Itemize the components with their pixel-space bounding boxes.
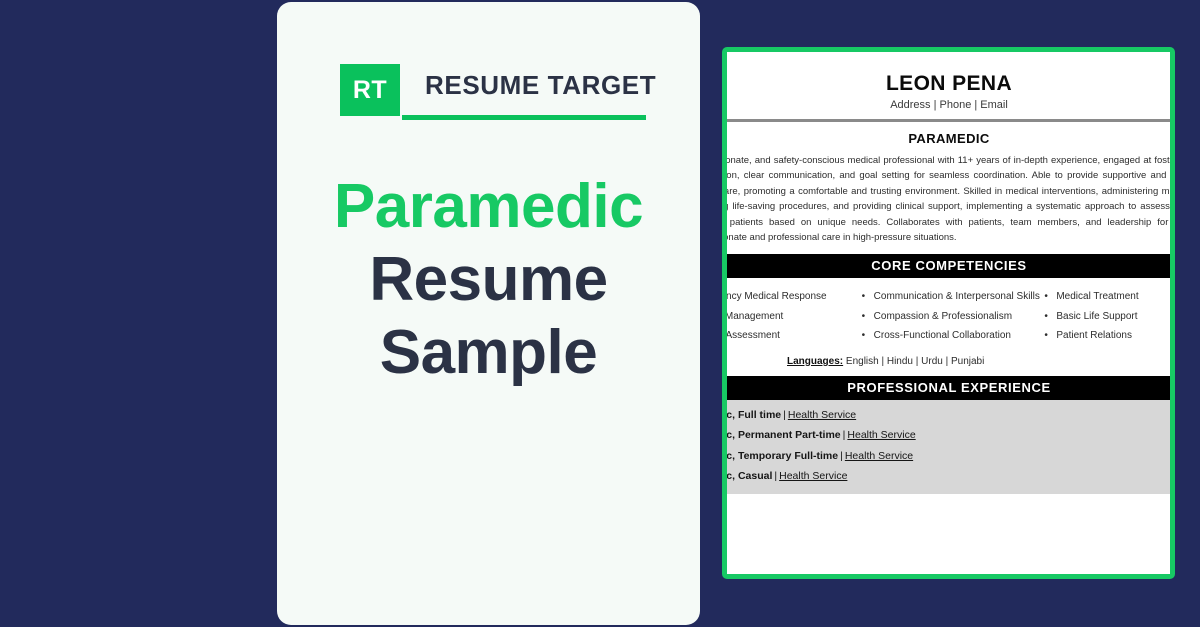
experience-role: Paramedic, Full time	[722, 409, 781, 421]
experience-separator: |	[838, 450, 845, 462]
experience-organization: Health Service	[779, 470, 847, 482]
experience-organization: Health Service	[788, 409, 856, 421]
experience-organization: Health Service	[845, 450, 913, 462]
bullet-icon: •	[862, 326, 866, 346]
resume-candidate-name: LEON PENA	[722, 72, 1175, 96]
experience-role: Paramedic, Casual	[722, 470, 772, 482]
page-title-line-1: Paramedic	[297, 170, 680, 243]
competency-label: Clinical Assessment	[722, 330, 780, 341]
competency-item: •Patient Management	[722, 307, 856, 327]
page-title: Paramedic Resume Sample	[297, 170, 680, 389]
experience-row: Paramedic, Permanent Part-time|Health Se…	[722, 425, 1175, 445]
competency-label: Basic Life Support	[1056, 311, 1137, 322]
competency-label: Emergency Medical Response	[722, 291, 827, 302]
resume-job-title: PARAMEDIC	[722, 131, 1175, 146]
competency-label: Cross-Functional Collaboration	[874, 330, 1011, 341]
bullet-icon: •	[1044, 307, 1048, 327]
resume-contact-line: Address | Phone | Email	[722, 99, 1175, 111]
competency-item: •Patient Relations	[1042, 326, 1175, 346]
experience-row: Paramedic, Full time|Health Service Sep.	[722, 405, 1175, 425]
competency-label: Patient Management	[722, 311, 783, 322]
brand-name: RESUME TARGET	[425, 70, 656, 101]
competency-item: •Cross-Functional Collaboration	[860, 326, 1039, 346]
experience-row: Paramedic, Casual|Health Service July	[722, 466, 1175, 486]
experience-title-group: Paramedic, Full time|Health Service	[722, 405, 856, 425]
competency-column-2: •Communication & Interpersonal Skills •C…	[860, 287, 1039, 346]
bullet-icon: •	[1044, 326, 1048, 346]
experience-title-group: Paramedic, Temporary Full-time|Health Se…	[722, 446, 913, 466]
resume-preview-card[interactable]: LEON PENA Address | Phone | Email PARAME…	[722, 47, 1175, 579]
languages-line: Languages: English | Hindu | Urdu | Punj…	[722, 356, 1175, 367]
competency-item: •Basic Life Support	[1042, 307, 1175, 327]
experience-separator: |	[781, 409, 788, 421]
resume-header-divider	[722, 119, 1175, 122]
bullet-icon: •	[1044, 287, 1048, 307]
resume-target-logo-icon: RT	[340, 64, 400, 116]
competency-label: Compassion & Professionalism	[874, 311, 1012, 322]
competency-label: Communication & Interpersonal Skills	[874, 291, 1040, 302]
experience-role: Paramedic, Temporary Full-time	[722, 450, 838, 462]
competency-column-3: •Medical Treatment •Basic Life Support •…	[1042, 287, 1175, 346]
experience-row: Paramedic, Temporary Full-time|Health Se…	[722, 446, 1175, 466]
resume-document: LEON PENA Address | Phone | Email PARAME…	[722, 52, 1175, 494]
languages-value: English | Hindu | Urdu | Punjabi	[846, 356, 984, 367]
experience-title-group: Paramedic, Casual|Health Service	[722, 466, 847, 486]
experience-organization: Health Service	[847, 429, 915, 441]
competency-label: Medical Treatment	[1056, 291, 1138, 302]
brand-lockup: RT RESUME TARGET	[340, 64, 646, 120]
page-title-line-3: Sample	[297, 316, 680, 389]
competency-item: •Emergency Medical Response	[722, 287, 856, 307]
experience-title-group: Paramedic, Permanent Part-time|Health Se…	[722, 425, 916, 445]
competency-item: •Communication & Interpersonal Skills	[860, 287, 1039, 307]
core-competencies-grid: •Emergency Medical Response •Patient Man…	[722, 278, 1175, 348]
experience-role: Paramedic, Permanent Part-time	[722, 429, 841, 441]
competency-item: •Medical Treatment	[1042, 287, 1175, 307]
professional-experience-list: Paramedic, Full time|Health Service Sep.…	[722, 400, 1175, 494]
bullet-icon: •	[862, 287, 866, 307]
bullet-icon: •	[862, 307, 866, 327]
section-heading-core-competencies: CORE COMPETENCIES	[722, 254, 1175, 278]
competency-item: •Compassion & Professionalism	[860, 307, 1039, 327]
competency-label: Patient Relations	[1056, 330, 1132, 341]
resume-summary-paragraph: Compassionate, and safety-conscious medi…	[722, 153, 1175, 245]
competency-item: •Clinical Assessment	[722, 326, 856, 346]
competency-column-1: •Emergency Medical Response •Patient Man…	[722, 287, 856, 346]
logo-initials: RT	[353, 76, 387, 105]
brand-underline-rule	[402, 115, 646, 120]
section-heading-professional-experience: PROFESSIONAL EXPERIENCE	[722, 376, 1175, 400]
promo-card: RT RESUME TARGET Paramedic Resume Sample	[277, 2, 700, 625]
languages-label: Languages:	[787, 356, 843, 367]
page-title-line-2: Resume	[297, 243, 680, 316]
